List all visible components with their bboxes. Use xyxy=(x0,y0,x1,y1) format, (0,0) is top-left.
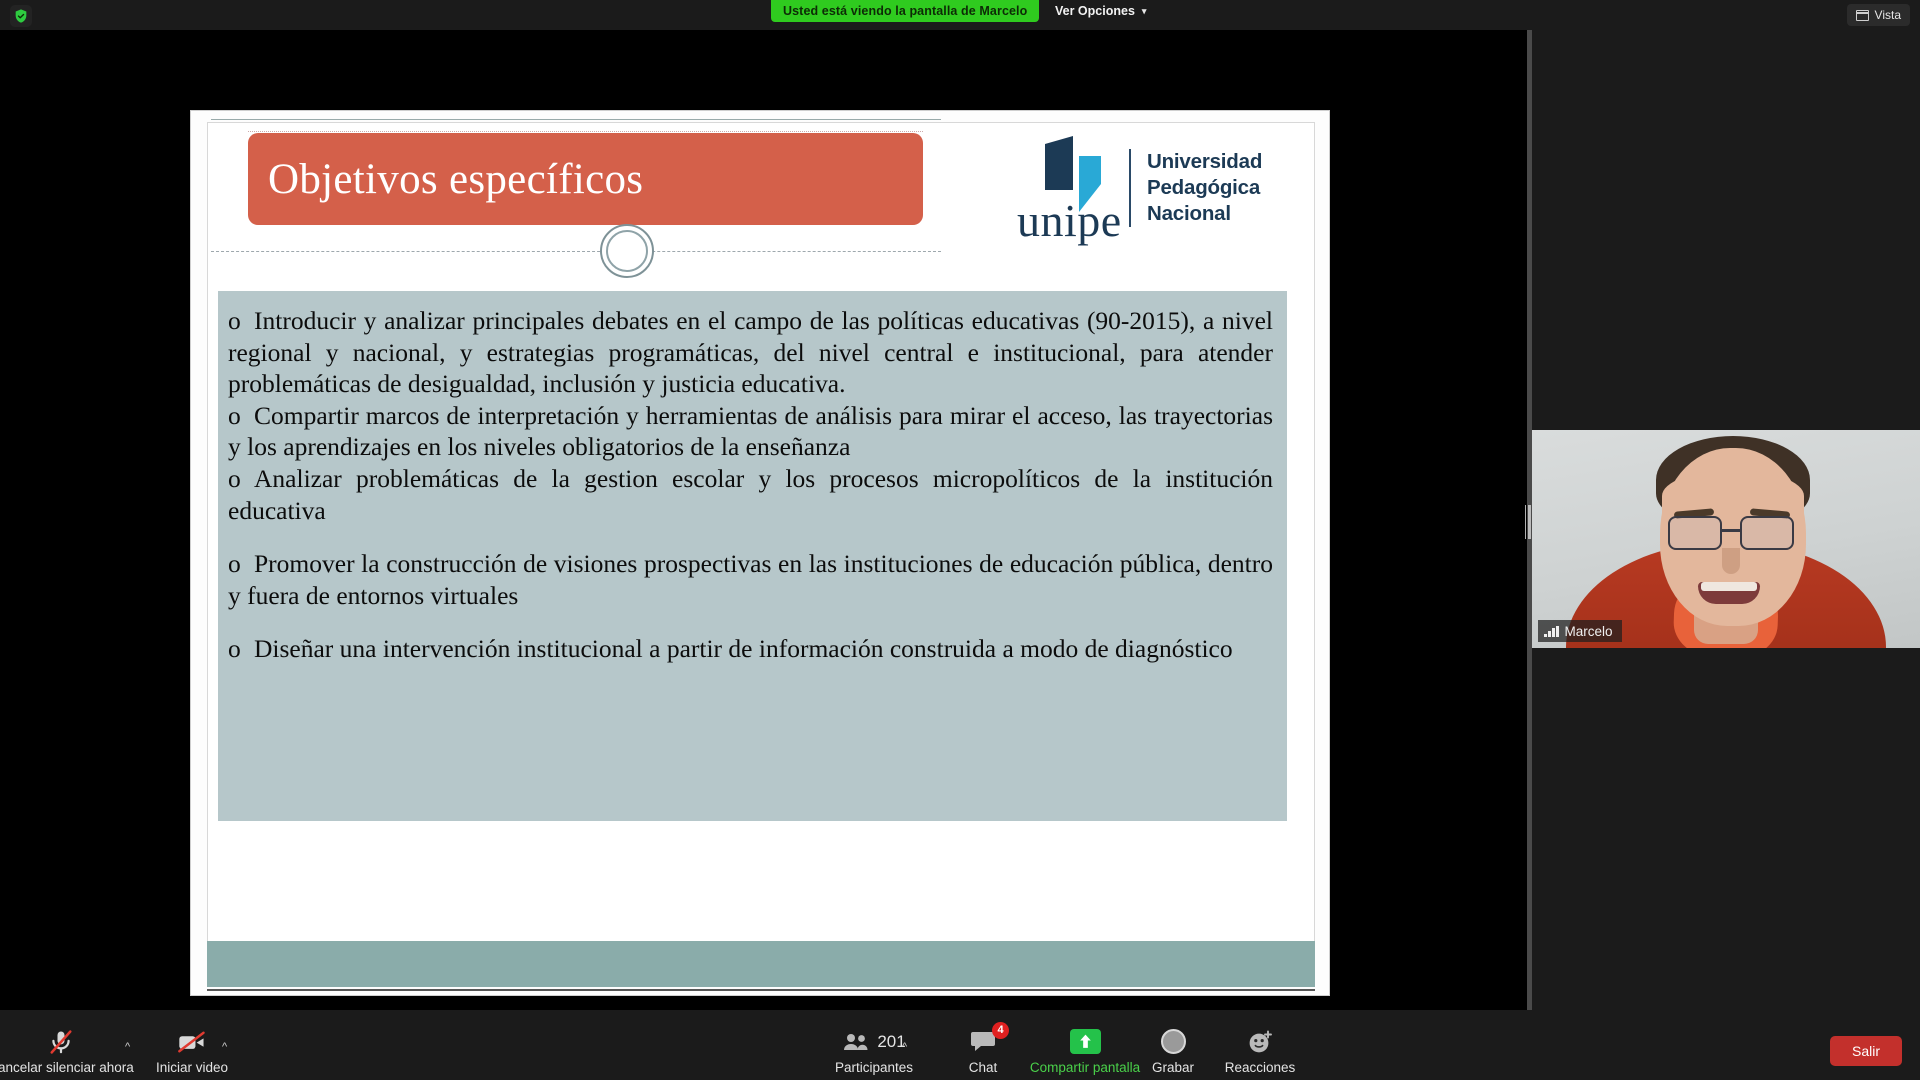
glasses-right-lens-icon xyxy=(1740,516,1794,550)
bullet-marker: o xyxy=(228,633,254,665)
start-video-label: Iniciar video xyxy=(156,1061,228,1075)
participant-name-badge: Marcelo xyxy=(1538,620,1622,642)
logo-line-2: Pedagógica xyxy=(1147,175,1262,201)
slide-bullet: oAnalizar problemáticas de la gestion es… xyxy=(228,463,1273,526)
mute-button[interactable]: Cancelar silenciar ahora xyxy=(5,1027,117,1075)
chat-bubble-icon: 4 xyxy=(970,1027,996,1057)
bullet-marker: o xyxy=(228,463,254,495)
zoom-meeting-window: Usted está viendo la pantalla de Marcelo… xyxy=(0,0,1920,1080)
participant-video-thumbnail[interactable]: Marcelo xyxy=(1532,430,1920,648)
bullet-marker: o xyxy=(228,305,254,337)
participants-label: Participantes xyxy=(835,1061,913,1075)
smiley-plus-icon xyxy=(1247,1027,1273,1057)
bullet-text: Introducir y analizar principales debate… xyxy=(228,306,1273,398)
signal-bars-icon xyxy=(1544,626,1559,637)
share-screen-up-arrow-icon xyxy=(1070,1027,1101,1057)
participants-button[interactable]: 201 Participantes xyxy=(818,1027,930,1075)
encryption-shield-icon[interactable] xyxy=(10,5,32,27)
view-layout-button[interactable]: Vista xyxy=(1847,4,1910,26)
mute-label: Cancelar silenciar ahora xyxy=(0,1061,134,1075)
slide-footer-bar xyxy=(207,941,1315,987)
bullet-text: Diseñar una intervención institucional a… xyxy=(254,634,1233,663)
meeting-toolbar: Cancelar silenciar ahora ^ Iniciar video… xyxy=(0,1010,1920,1080)
view-layout-label: Vista xyxy=(1875,8,1901,22)
logo-line-1: Universidad xyxy=(1147,149,1262,175)
slide-bullet: oCompartir marcos de interpretación y he… xyxy=(228,400,1273,463)
bullet-text: Analizar problemáticas de la gestion esc… xyxy=(228,464,1273,525)
shared-screen-stage[interactable]: Objetivos específicos unipe Universidad … xyxy=(0,30,1527,1010)
grid-view-icon xyxy=(1856,10,1869,21)
slide-content-box: oIntroducir y analizar principales debat… xyxy=(218,291,1287,821)
nose-shape xyxy=(1722,548,1740,574)
unipe-logo: unipe Universidad Pedagógica Nacional xyxy=(1015,133,1315,243)
slide-bullet: oIntroducir y analizar principales debat… xyxy=(228,305,1273,400)
screen-share-banner-text: Usted está viendo la pantalla de Marcelo xyxy=(783,4,1027,18)
screen-share-banner: Usted está viendo la pantalla de Marcelo xyxy=(771,0,1039,22)
logo-line-3: Nacional xyxy=(1147,201,1262,227)
bullet-marker: o xyxy=(228,400,254,432)
reactions-button[interactable]: Reacciones xyxy=(1180,1027,1340,1075)
chevron-down-icon: ▾ xyxy=(1142,6,1147,17)
video-options-caret-icon[interactable]: ^ xyxy=(222,1041,227,1053)
leave-meeting-button[interactable]: Salir xyxy=(1830,1036,1902,1066)
title-dotted-top xyxy=(248,131,923,132)
start-video-button[interactable]: Iniciar video xyxy=(136,1027,248,1075)
slide-bullet: oDiseñar una intervención institucional … xyxy=(228,633,1273,665)
slide-bottom-rule xyxy=(207,989,1315,991)
bullet-text: Promover la construcción de visiones pro… xyxy=(228,549,1273,610)
camera-off-icon xyxy=(177,1027,207,1057)
mute-options-caret-icon[interactable]: ^ xyxy=(125,1041,130,1053)
bullet-marker: o xyxy=(228,548,254,580)
participants-options-caret-icon[interactable]: ^ xyxy=(902,1041,907,1053)
logo-divider xyxy=(1129,149,1131,227)
mouth-shape xyxy=(1698,582,1760,604)
top-bar: Usted está viendo la pantalla de Marcelo… xyxy=(0,0,1920,30)
slide-bullet: oPromover la construcción de visiones pr… xyxy=(228,548,1273,611)
slide-title-band: Objetivos específicos xyxy=(248,133,923,225)
logo-text-block: Universidad Pedagógica Nacional xyxy=(1147,149,1262,227)
presentation-slide: Objetivos específicos unipe Universidad … xyxy=(190,110,1330,996)
microphone-muted-icon xyxy=(47,1027,75,1057)
unipe-flag-icon: unipe xyxy=(1015,134,1125,242)
chat-label: Chat xyxy=(969,1061,998,1075)
slide-header-rule xyxy=(211,119,941,120)
glasses-bridge-icon xyxy=(1722,529,1740,532)
view-options-button[interactable]: Ver Opciones ▾ xyxy=(1045,0,1156,22)
glasses-left-lens-icon xyxy=(1668,516,1722,550)
bullet-text: Compartir marcos de interpretación y her… xyxy=(228,401,1273,462)
reactions-label: Reacciones xyxy=(1225,1061,1296,1075)
panel-divider-handle[interactable] xyxy=(1527,30,1532,1010)
people-icon: 201 xyxy=(842,1027,905,1057)
unipe-wordmark: unipe xyxy=(1017,198,1122,244)
slide-dashed-divider xyxy=(211,251,941,252)
circle-decoration-icon xyxy=(600,224,654,278)
slide-title: Objetivos específicos xyxy=(268,155,643,204)
participant-name: Marcelo xyxy=(1565,624,1613,639)
view-options-label: Ver Opciones xyxy=(1055,4,1135,18)
divider-grip-icon xyxy=(1528,505,1531,539)
